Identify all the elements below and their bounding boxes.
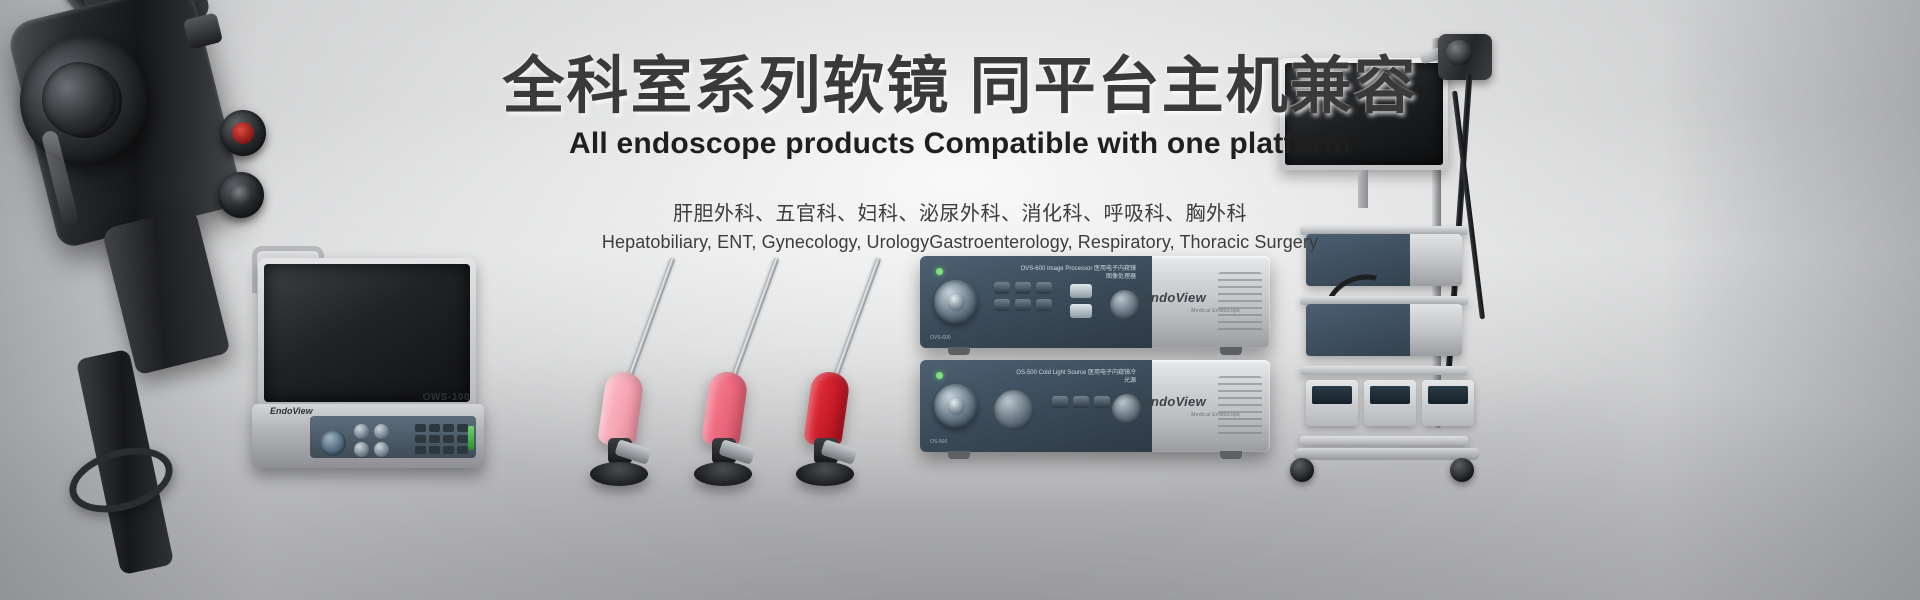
trolley-base <box>1294 448 1480 460</box>
cold-light-brightness-knob <box>994 390 1034 430</box>
cold-light-brand: EndoView <box>1142 394 1206 409</box>
image-processor-port-2 <box>1070 304 1092 318</box>
image-processor-main-dial <box>934 280 978 324</box>
workstation-key <box>429 435 440 443</box>
image-processor-front-panel: OVS-600 Image Processor 医用电子内窥镜图像处理器 OVS… <box>920 256 1152 348</box>
cold-light-source-unit: OS-500 Cold Light Source 医用电子内窥镜冷光源 OS-5… <box>920 360 1270 452</box>
cold-light-power-led <box>936 372 943 379</box>
instrument-handle-body <box>803 370 851 449</box>
image-processor-button <box>1015 282 1031 294</box>
cold-light-main-dial <box>934 384 978 428</box>
image-processor-unit: OVS-600 Image Processor 医用电子内窥镜图像处理器 OVS… <box>920 256 1270 348</box>
cold-light-output-port <box>1112 394 1142 424</box>
trolley-shelf <box>1300 366 1468 375</box>
image-processor-brand: EndoView <box>1142 290 1206 305</box>
workstation-key <box>457 435 468 443</box>
cold-light-vent <box>1218 376 1262 436</box>
endoscope-port <box>183 12 223 49</box>
workstation-key <box>415 435 426 443</box>
workstation-key <box>443 424 454 432</box>
trolley-shelf <box>1300 436 1468 445</box>
image-processor-button <box>1036 299 1052 311</box>
workstation-status-strip <box>468 426 474 450</box>
processor-stack: OVS-600 Image Processor 医用电子内窥镜图像处理器 OVS… <box>920 256 1280 466</box>
workstation-key <box>415 446 426 454</box>
image-processor-buttonpad <box>994 282 1052 311</box>
trolley-wheel-right <box>1450 458 1474 482</box>
headline-english: All endoscope products Compatible with o… <box>0 127 1920 161</box>
trolley-accessory-screen <box>1312 386 1352 404</box>
headline-block: 全科室系列软镜 同平台主机兼容 All endoscope products C… <box>0 52 1920 253</box>
instrument-handle-body <box>701 370 749 449</box>
trolley-accessory-screen <box>1428 386 1468 404</box>
workstation-key <box>457 446 468 454</box>
image-processor-power-led <box>936 268 943 275</box>
trolley-device-lower-panel <box>1306 304 1410 356</box>
instrument-base <box>590 462 648 486</box>
workstation-key <box>443 435 454 443</box>
image-processor-port-1 <box>1070 284 1092 298</box>
departments-english: Hepatobiliary, ENT, Gynecology, UrologyG… <box>0 232 1920 253</box>
image-processor-secondary-dial <box>1110 290 1140 320</box>
departments-chinese: 肝胆外科、五官科、妇科、泌尿外科、消化科、呼吸科、胸外科 <box>0 197 1920 226</box>
trolley-accessory-screen <box>1370 386 1410 404</box>
rigid-endoscope-red <box>762 250 882 490</box>
image-processor-side-text: OVS-600 <box>930 335 951 341</box>
workstation-key <box>429 446 440 454</box>
image-processor-button <box>994 282 1010 294</box>
cold-light-front-panel: OS-500 Cold Light Source 医用电子内窥镜冷光源 OS-5… <box>920 360 1152 452</box>
trolley-accessory-box-1 <box>1306 380 1358 426</box>
instrument-base <box>796 462 854 486</box>
image-processor-foot <box>1220 347 1242 355</box>
workstation-model-label: OWS-100 <box>423 392 470 403</box>
instrument-handle-body <box>597 370 645 449</box>
image-processor-button <box>1015 299 1031 311</box>
cold-light-foot <box>948 451 970 459</box>
image-processor-panel-label: OVS-600 Image Processor 医用电子内窥镜图像处理器 <box>1016 265 1136 281</box>
workstation-key <box>429 424 440 432</box>
cold-light-side-text: OS-500 <box>930 439 947 445</box>
image-processor-foot <box>948 347 970 355</box>
cold-light-panel-label: OS-500 Cold Light Source 医用电子内窥镜冷光源 <box>1016 369 1136 385</box>
headline-chinese: 全科室系列软镜 同平台主机兼容 <box>0 52 1920 121</box>
image-processor-button <box>1036 282 1052 294</box>
image-processor-vent <box>1218 272 1262 332</box>
cold-light-buttonpad <box>1052 396 1110 408</box>
workstation-key <box>457 424 468 432</box>
cold-light-button-brightness-up <box>1052 396 1068 408</box>
promo-banner: 全科室系列软镜 同平台主机兼容 All endoscope products C… <box>0 0 1920 600</box>
trolley-device-lower <box>1306 304 1462 356</box>
image-processor-button <box>994 299 1010 311</box>
workstation-key <box>443 446 454 454</box>
cold-light-button-brightness-down <box>1094 396 1110 408</box>
cold-light-button-standby <box>1073 396 1089 408</box>
workstation-keypad <box>415 424 468 454</box>
trolley-accessory-box-3 <box>1422 380 1474 426</box>
workstation-key <box>415 424 426 432</box>
instrument-shaft <box>832 257 881 381</box>
instrument-base <box>694 462 752 486</box>
cold-light-foot <box>1220 451 1242 459</box>
trolley-accessory-box-2 <box>1364 380 1416 426</box>
trolley-wheel-left <box>1290 458 1314 482</box>
